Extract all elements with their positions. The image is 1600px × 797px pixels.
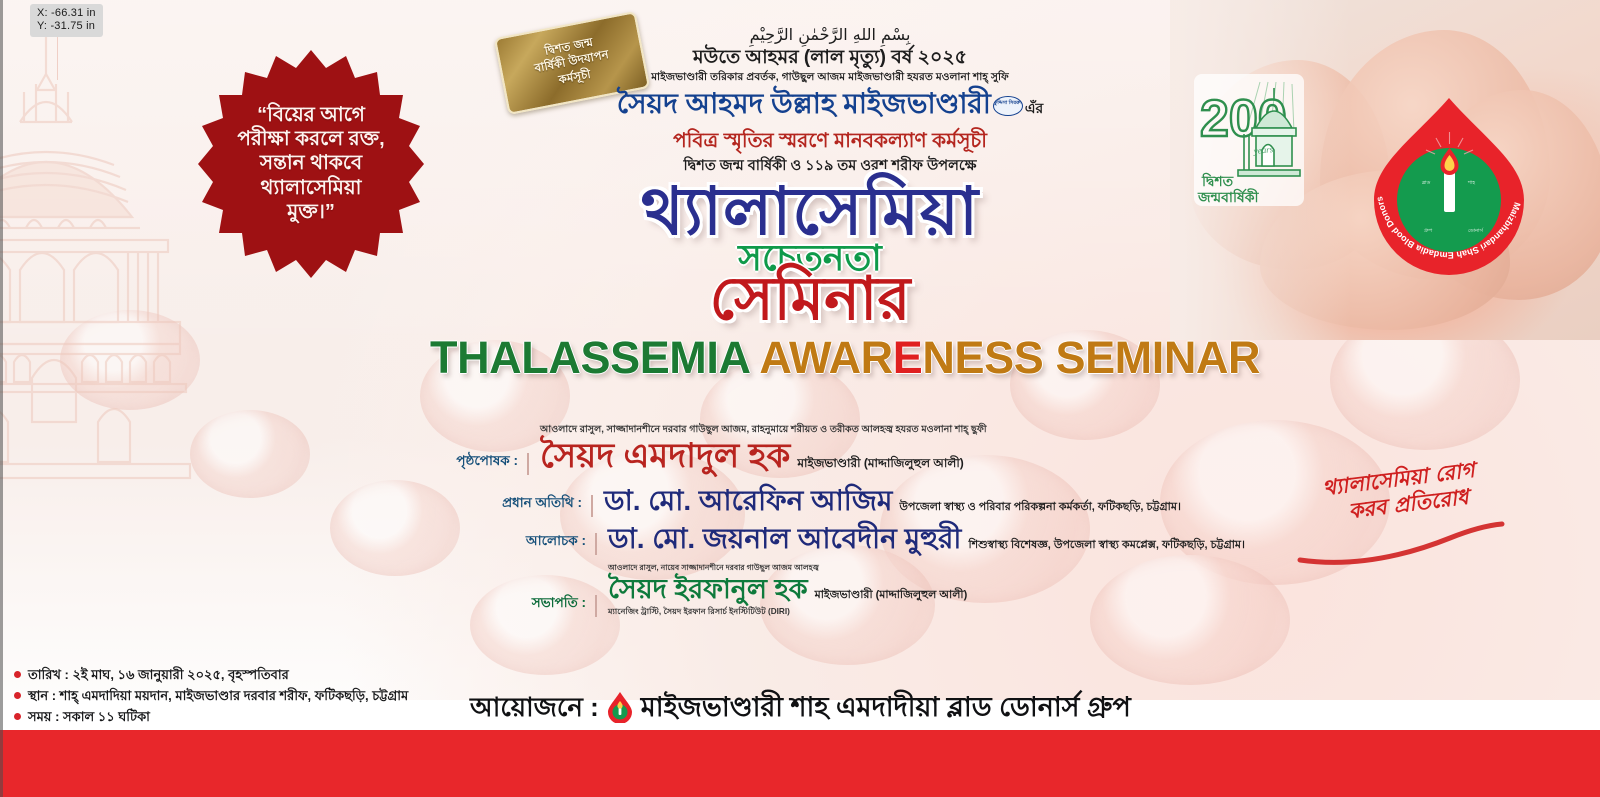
title-en-part2: AWAR: [759, 332, 892, 383]
header-line-1: মউতে আহমর (লাল মৃত্যু) বর্ষ ২০২৫: [560, 46, 1100, 70]
bismillah-calligraphy: بِسْمِ اللهِ الرَّحْمٰنِ الرَّحِيْمِ: [560, 26, 1100, 44]
title-en-part3: E: [893, 332, 923, 383]
header-block: بِسْمِ اللهِ الرَّحْمٰنِ الرَّحِيْمِ মউত…: [560, 26, 1100, 177]
guest-row: প্রধান অতিথি : ডা. মো. আরেফিন আজিম উপজেল…: [478, 485, 1270, 517]
guest-subtext: ম্যানেজিং ট্রাস্টি, সৈয়দ ইরফান রিসার্চ …: [608, 606, 1270, 617]
organizer-line: আয়োজনে : মাইজভাণ্ডারী শাহ এমদাদীয়া ব্ল…: [470, 690, 1131, 724]
coordinate-x: X: -66.31 in: [37, 7, 96, 20]
header-saint-name: সৈয়দ আহমদ উল্লাহ মাইজভাণ্ডারীকুদ্দিসা স…: [560, 85, 1100, 127]
guest-name: ডা. মো. আরেফিন আজিম: [604, 485, 892, 517]
blood-donors-group-logo: Maizbhandari Shah Emdadia Blood Donors G…: [1356, 92, 1542, 284]
two-hundred-years-logo: 200 দ্বিশত জন্মবার্ষিকী years: [1194, 74, 1304, 206]
title-en-part4: NESS SEMINAR: [922, 332, 1260, 383]
guest-name: সৈয়দ ইরফানুল হক: [608, 574, 808, 605]
guest-role: পৃষ্ঠপোষক :: [400, 453, 529, 475]
guest-list: পৃষ্ঠপোষক : আওলাদে রাসুল, সাজ্জাদানশীনে …: [400, 424, 1270, 622]
guest-designation: উপজেলা স্বাস্থ্য ও পরিবার পরিকল্পনা কর্ম…: [899, 499, 1180, 515]
seal-line-2: পরীক্ষা করলে রক্ত,: [237, 128, 384, 151]
svg-text:দ্বিশত: দ্বিশত: [1201, 172, 1234, 189]
header-line-4: পবিত্র স্মৃতির স্মরণে মানবকল্যাণ কর্মসূচ…: [560, 127, 1100, 155]
guest-designation: শিশুস্বাস্থ্য বিশেষজ্ঞ, উপজেলা স্বাস্থ্য…: [968, 537, 1245, 553]
organizer-name: মাইজভাণ্ডারী শাহ এমদাদীয়া ব্লাড ডোনার্স…: [641, 690, 1131, 724]
banner-canvas: Maizbhandari Shah Emdadia Blood Donors G…: [0, 0, 1600, 797]
guest-role: প্রধান অতিথি :: [478, 495, 593, 517]
svg-text:গ্রুপ: গ্রুপ: [1424, 228, 1433, 234]
header-line-2: মাইজভাণ্ডারী তরিকার প্রবর্তক, গাউছুল আজম…: [560, 70, 1100, 85]
seal-line-5: মুক্ত।”: [287, 201, 335, 224]
seal-line-3: সন্তান থাকবে: [260, 152, 362, 175]
guest-pretext: আওলাদে রাসুল, সাজ্জাদানশীনে দরবার গাউছুল…: [540, 424, 1270, 436]
slogan-starburst-seal: “বিয়ের আগে পরীক্ষা করলে রক্ত, সন্তান থা…: [198, 48, 424, 280]
svg-text:ডোনার্স: ডোনার্স: [1468, 227, 1484, 234]
saint-name-suffix: এঁর: [1025, 100, 1043, 116]
guest-role: আলোচক :: [508, 533, 597, 555]
title-bn-big: সেমিনার: [430, 268, 1190, 330]
detail-text: তারিখ : ২ই মাঘ, ১৬ জানুয়ারী ২০২৫, বৃহস্…: [28, 664, 289, 685]
guest-role: সভাপতি :: [510, 595, 597, 617]
svg-text:জন্মবার্ষিকী: জন্মবার্ষিকী: [1197, 188, 1259, 205]
guest-designation: মাইজভাণ্ডারী (মাদ্দাজিলুহুল আলী): [797, 455, 963, 471]
guest-name: ডা. মো. জয়নাল আবেদীন মুহুরী: [608, 523, 961, 555]
guest-row: আলোচক : ডা. মো. জয়নাল আবেদীন মুহুরী শিশ…: [508, 523, 1270, 555]
svg-text:ব্লাড: ব্লাড: [1421, 180, 1431, 186]
detail-row: স্থান : শাহ্ এমদাদিয়া ময়দান, মাইজভাণ্ড…: [14, 685, 408, 706]
guest-name: সৈয়দ এমদাদুল হক: [540, 437, 790, 475]
guest-row: পৃষ্ঠপোষক : আওলাদে রাসুল, সাজ্জাদানশীনে …: [400, 424, 1270, 475]
bullet-icon: [14, 671, 21, 678]
title-en: THALASSEMIA AWARENESS SEMINAR: [430, 332, 1190, 384]
guest-pretext: আওলাদে রাসুল, নায়েব সাজ্জাদানশীনে দরবার…: [608, 563, 1270, 573]
bullet-icon: [14, 713, 21, 720]
guest-row: সভাপতি : আওলাদে রাসুল, নায়েব সাজ্জাদানশ…: [510, 563, 1270, 617]
svg-text:শাহ: শাহ: [1467, 180, 1475, 186]
seal-slogan: “বিয়ের আগে পরীক্ষা করলে রক্ত, সন্তান থা…: [198, 48, 424, 280]
detail-text: স্থান : শাহ্ এমদাদিয়া ময়দান, মাইজভাণ্ড…: [28, 685, 408, 706]
saint-name-text: সৈয়দ আহমদ উল্লাহ মাইজভাণ্ডারী: [617, 88, 991, 119]
organizer-label: আয়োজনে :: [470, 690, 599, 724]
coordinate-y: Y: -31.75 in: [37, 20, 96, 33]
title-bn-main: থ্যালাসেমিয়া: [430, 178, 1190, 244]
left-edge-marker: [0, 0, 3, 797]
seal-line-1: “বিয়ের আগে: [257, 104, 365, 127]
blood-drop-icon: [607, 691, 633, 723]
bottom-red-bar: [0, 730, 1600, 797]
guest-designation: মাইজভাণ্ডারী (মাদ্দাজিলুহুল আলী): [815, 587, 968, 603]
detail-row: সময় : সকাল ১১ ঘটিকা: [14, 706, 408, 727]
main-title-block: থ্যালাসেমিয়া সচেতনতা সেমিনার THALASSEMI…: [430, 178, 1190, 384]
bullet-icon: [14, 692, 21, 699]
title-en-part1: THALASSEMIA: [430, 332, 759, 383]
coordinate-readout: X: -66.31 in Y: -31.75 in: [30, 4, 103, 37]
seal-line-4: থ্যালাসেমিয়া: [261, 177, 362, 200]
detail-text: সময় : সকাল ১১ ঘটিকা: [28, 706, 150, 727]
honorific-seal-icon: কুদ্দিসা সিররুহুল আজিজ: [993, 96, 1023, 116]
detail-row: তারিখ : ২ই মাঘ, ১৬ জানুয়ারী ২০২৫, বৃহস্…: [14, 664, 408, 685]
event-details: তারিখ : ২ই মাঘ, ১৬ জানুয়ারী ২০২৫, বৃহস্…: [14, 664, 408, 727]
